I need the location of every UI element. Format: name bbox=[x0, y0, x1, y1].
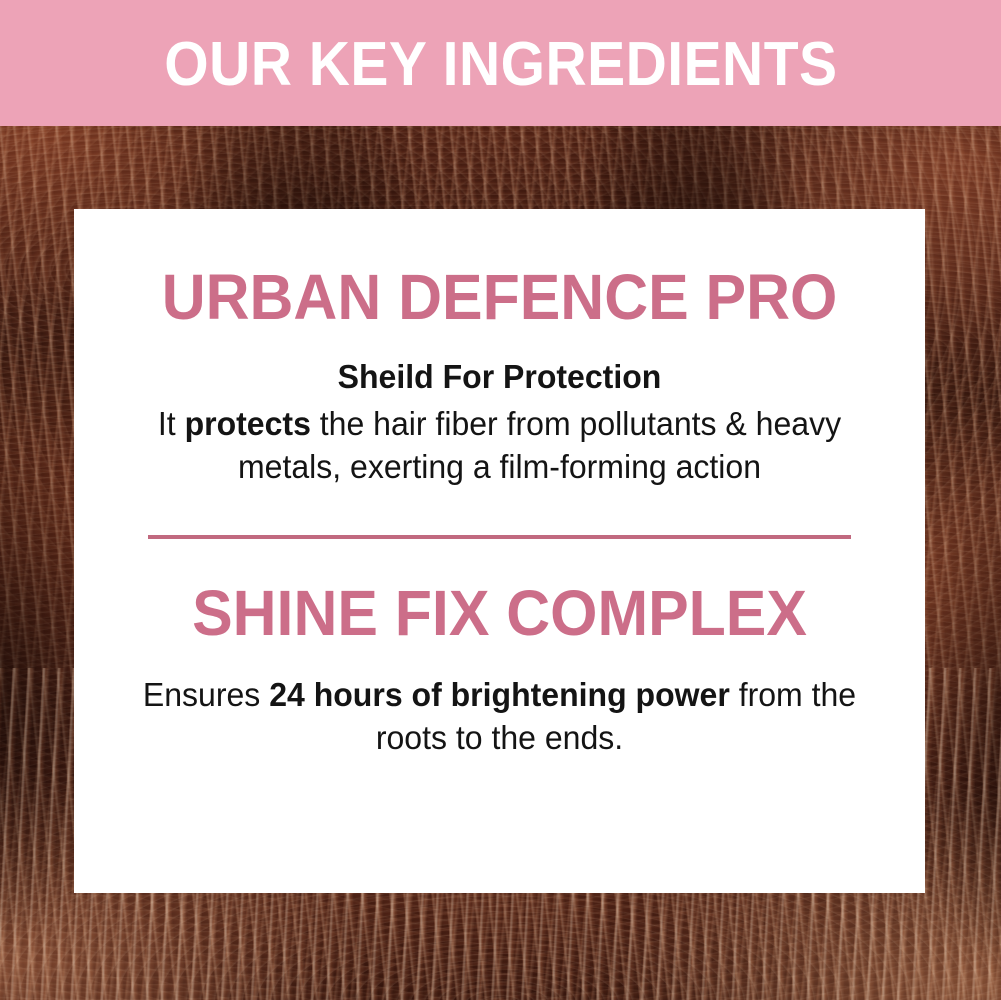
ingredient-block-shine-fix-complex: SHINE FIX COMPLEX Ensures 24 hours of br… bbox=[108, 539, 891, 760]
ingredients-infographic: OUR KEY INGREDIENTS URBAN DEFENCE PRO Sh… bbox=[0, 0, 1001, 1000]
ingredient-subheading-1: Sheild For Protection bbox=[120, 356, 880, 399]
page-title: OUR KEY INGREDIENTS bbox=[164, 30, 837, 96]
ingredient-block-urban-defence-pro: URBAN DEFENCE PRO Sheild For Protection … bbox=[108, 261, 891, 489]
ingredients-card: URBAN DEFENCE PRO Sheild For Protection … bbox=[74, 209, 925, 893]
ingredient-heading-1: URBAN DEFENCE PRO bbox=[128, 265, 872, 330]
ingredient-description-1: It protects the hair fiber from pollutan… bbox=[120, 403, 880, 489]
ingredient-description-2: Ensures 24 hours of brightening power fr… bbox=[120, 674, 880, 760]
header-banner: OUR KEY INGREDIENTS bbox=[0, 0, 1001, 126]
ingredient-heading-2: SHINE FIX COMPLEX bbox=[128, 581, 872, 646]
